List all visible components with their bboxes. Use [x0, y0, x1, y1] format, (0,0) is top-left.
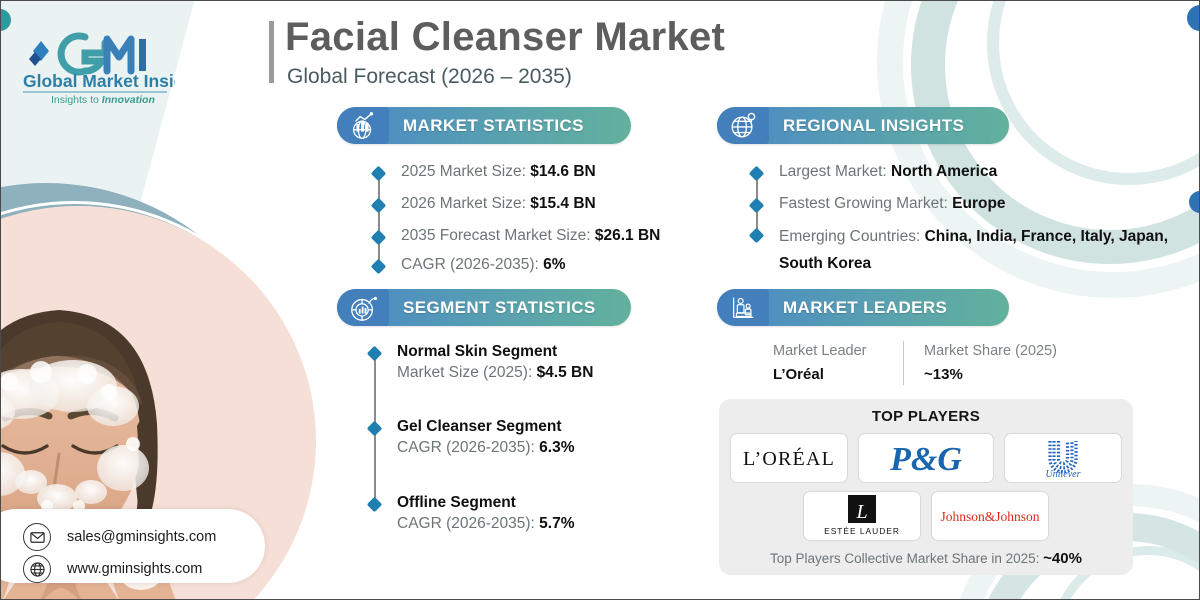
- footer-label: Top Players Collective Market Share in 2…: [770, 551, 1043, 566]
- item-label: Market Size (2025):: [397, 364, 537, 381]
- item-value: $14.6 BN: [530, 163, 595, 180]
- list-item: Largest Market: North America: [751, 161, 1181, 193]
- item-value: $15.4 BN: [530, 195, 595, 212]
- bullet-diamond-icon: [371, 259, 387, 275]
- section-label: MARKET LEADERS: [769, 298, 947, 318]
- player-logo-loreal[interactable]: L’ORÉAL: [730, 433, 848, 483]
- item-label: Fastest Growing Market:: [779, 195, 952, 212]
- player-logo-unilever[interactable]: Unilever: [1004, 433, 1122, 483]
- market-share-column: Market Share (2025) ~13%: [924, 341, 1094, 385]
- svg-text:P&G: P&G: [889, 441, 962, 478]
- top-players-footer: Top Players Collective Market Share in 2…: [719, 550, 1133, 567]
- contact-website: www.gminsights.com: [67, 561, 202, 577]
- list-item: Offline Segment CAGR (2026-2035): 5.7%: [369, 492, 699, 542]
- item-value: 5.7%: [539, 515, 574, 532]
- podium-leaders-icon: [717, 289, 769, 326]
- contact-bar: sales@gminsights.com www.gminsights.com: [0, 509, 265, 583]
- column-divider: [903, 341, 904, 385]
- svg-text:L: L: [855, 501, 867, 523]
- section-label: REGIONAL INSIGHTS: [769, 116, 964, 136]
- bullet-diamond-icon: [371, 166, 387, 182]
- list-item: Fastest Growing Market: Europe: [751, 193, 1181, 223]
- svg-text:L’ORÉAL: L’ORÉAL: [743, 447, 835, 470]
- item-value: 6.3%: [539, 439, 574, 456]
- gmi-logo: Global Market Insights Insights to Innov…: [15, 23, 175, 103]
- globe-pin-icon: [717, 107, 769, 144]
- section-label: SEGMENT STATISTICS: [389, 298, 596, 318]
- contact-email: sales@gminsights.com: [67, 529, 216, 545]
- logo-name: Global Market Insights: [23, 71, 175, 91]
- globe-chart-icon: [337, 107, 389, 144]
- item-label: CAGR (2026-2035):: [397, 439, 539, 456]
- section-label: MARKET STATISTICS: [389, 116, 584, 136]
- market-leader-column: Market Leader L’Oréal: [773, 341, 883, 385]
- bullet-diamond-icon: [749, 166, 765, 182]
- pg-logo-icon: P&G: [866, 437, 986, 479]
- item-heading: Normal Skin Segment: [397, 341, 699, 362]
- bullet-diamond-icon: [371, 198, 387, 214]
- list-item: 2025 Market Size: $14.6 BN: [373, 161, 703, 193]
- envelope-icon: [23, 523, 51, 551]
- market-leader-value: L’Oréal: [773, 364, 883, 385]
- list-item: Normal Skin Segment Market Size (2025): …: [369, 341, 699, 416]
- item-heading: Gel Cleanser Segment: [397, 416, 699, 437]
- list-item: Gel Cleanser Segment CAGR (2026-2035): 6…: [369, 416, 699, 492]
- estee-lauder-logo-icon: L ESTÉE LAUDER: [810, 493, 914, 539]
- section-header-market-statistics: MARKET STATISTICS: [337, 107, 631, 144]
- item-value: $26.1 BN: [595, 227, 660, 244]
- bullet-diamond-icon: [367, 346, 383, 362]
- bullet-diamond-icon: [367, 497, 383, 513]
- top-players-title: TOP PLAYERS: [719, 399, 1133, 425]
- market-share-caption: Market Share (2025): [924, 341, 1094, 361]
- section-header-regional-insights: REGIONAL INSIGHTS: [717, 107, 1009, 144]
- market-leader-summary: Market Leader L’Oréal Market Share (2025…: [773, 341, 1094, 385]
- item-value: $4.5 BN: [537, 364, 594, 381]
- bullet-diamond-icon: [749, 198, 765, 214]
- item-value: North America: [891, 163, 997, 180]
- item-label: 2035 Forecast Market Size:: [401, 227, 595, 244]
- item-heading: Offline Segment: [397, 492, 699, 513]
- item-label: 2026 Market Size:: [401, 195, 530, 212]
- logo-tagline: Insights to Innovation: [51, 94, 155, 105]
- market-leader-caption: Market Leader: [773, 341, 883, 361]
- regional-insights-list: Largest Market: North America Fastest Gr…: [751, 161, 1181, 275]
- bullet-diamond-icon: [367, 421, 383, 437]
- market-share-value: ~13%: [924, 364, 1094, 385]
- infographic-canvas: Global Market Insights Insights to Innov…: [0, 0, 1200, 600]
- list-item: 2026 Market Size: $15.4 BN: [373, 193, 703, 225]
- list-item: Emerging Countries: China, India, France…: [751, 223, 1181, 275]
- section-header-segment-statistics: SEGMENT STATISTICS: [337, 289, 631, 326]
- top-players-row-2: L ESTÉE LAUDER Johnson&Johnson: [719, 491, 1133, 541]
- top-players-box: TOP PLAYERS L’ORÉAL P&G: [719, 399, 1133, 575]
- page-title: Facial Cleanser Market: [285, 15, 725, 60]
- globe-icon: [23, 555, 51, 583]
- item-label: Emerging Countries:: [779, 228, 925, 245]
- player-logo-estee-lauder[interactable]: L ESTÉE LAUDER: [803, 491, 921, 541]
- item-value: 6%: [543, 256, 565, 273]
- svg-text:Johnson&Johnson: Johnson&Johnson: [940, 509, 1039, 524]
- top-players-row-1: L’ORÉAL P&G Unilever: [719, 433, 1133, 483]
- list-item: CAGR (2026-2035): 6%: [373, 254, 703, 280]
- player-logo-johnson-and-johnson[interactable]: Johnson&Johnson: [931, 491, 1049, 541]
- unilever-logo-icon: Unilever: [1013, 435, 1113, 481]
- list-item: 2035 Forecast Market Size: $26.1 BN: [373, 225, 703, 254]
- svg-text:ESTÉE LAUDER: ESTÉE LAUDER: [824, 526, 900, 536]
- loreal-logo-icon: L’ORÉAL: [737, 444, 841, 472]
- item-label: CAGR (2026-2035):: [401, 256, 543, 273]
- contact-website-row[interactable]: www.gminsights.com: [23, 555, 202, 583]
- item-label: Largest Market:: [779, 163, 891, 180]
- bullet-diamond-icon: [749, 228, 765, 244]
- page-subtitle: Global Forecast (2026 – 2035): [287, 65, 572, 89]
- contact-email-row[interactable]: sales@gminsights.com: [23, 523, 216, 551]
- item-value: Europe: [952, 195, 1005, 212]
- player-logo-pg[interactable]: P&G: [858, 433, 994, 483]
- item-label: CAGR (2026-2035):: [397, 515, 539, 532]
- section-header-market-leaders: MARKET LEADERS: [717, 289, 1009, 326]
- market-statistics-list: 2025 Market Size: $14.6 BN 2026 Market S…: [373, 161, 703, 280]
- pie-chart-target-icon: [337, 289, 389, 326]
- svg-text:Unilever: Unilever: [1046, 469, 1081, 480]
- footer-value: ~40%: [1043, 550, 1082, 567]
- segment-statistics-list: Normal Skin Segment Market Size (2025): …: [369, 341, 699, 542]
- title-accent-bar: [269, 21, 274, 83]
- jnj-logo-icon: Johnson&Johnson: [934, 503, 1046, 529]
- item-label: 2025 Market Size:: [401, 163, 530, 180]
- bullet-diamond-icon: [371, 230, 387, 246]
